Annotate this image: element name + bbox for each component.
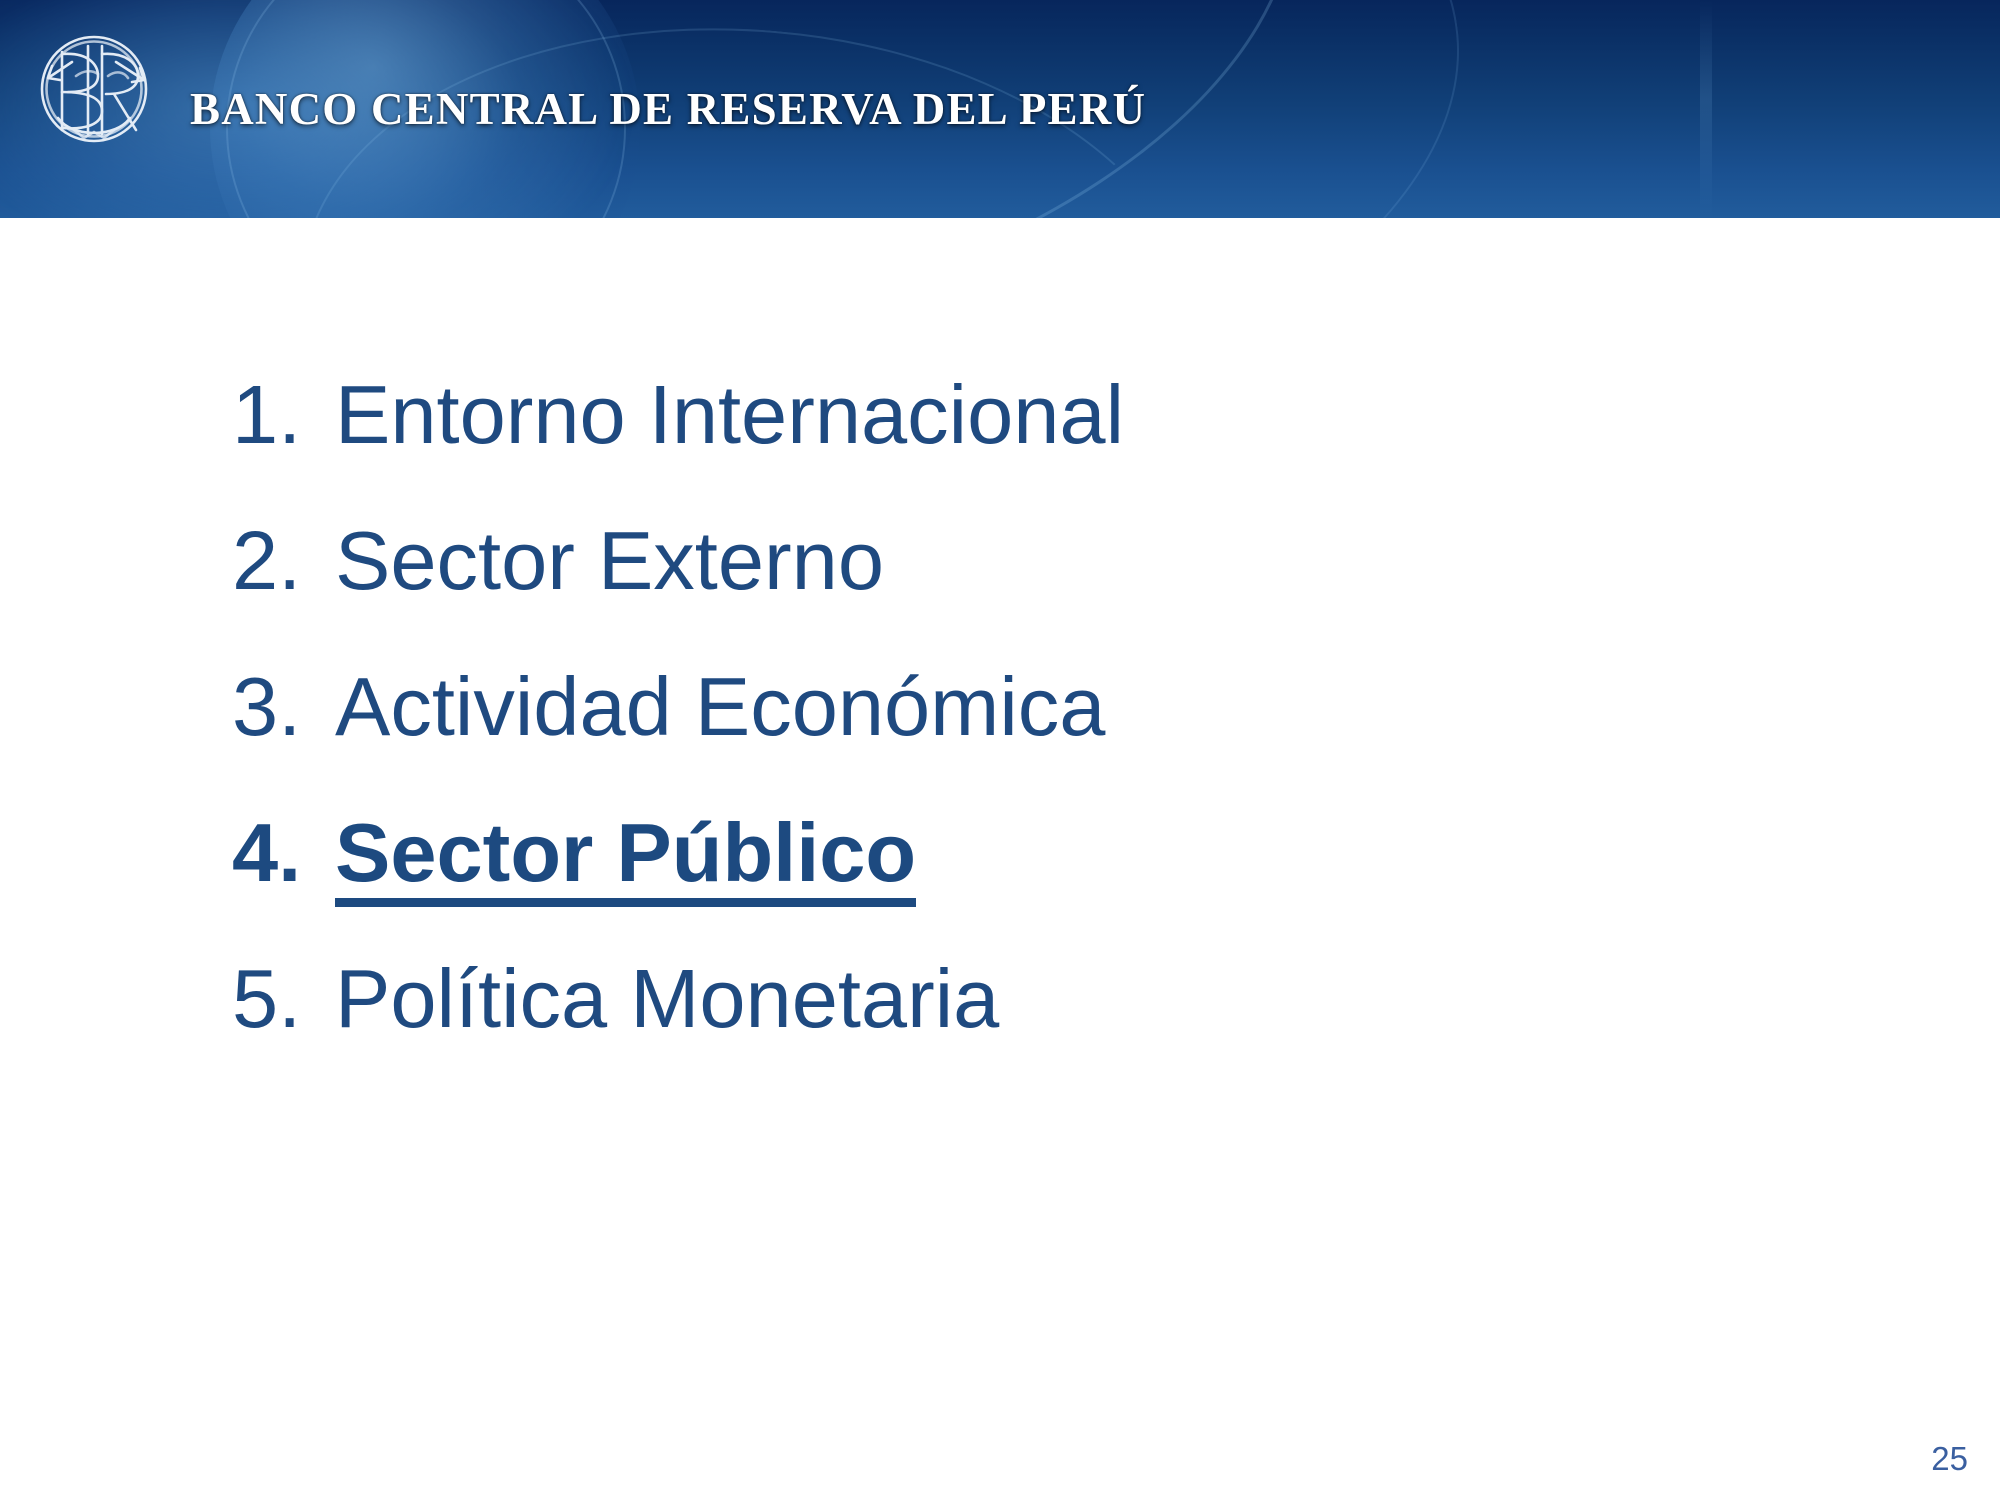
- bank-title: BANCO CENTRAL DE RESERVA DEL PERÚ: [190, 0, 1146, 218]
- header-light-streak: [1700, 0, 1712, 218]
- agenda-item-1-label: Entorno Internacional: [335, 360, 1124, 470]
- agenda-item-2-number: 2.: [232, 506, 335, 616]
- agenda-item-2-label: Sector Externo: [335, 506, 884, 616]
- agenda-item-1-number: 1.: [232, 360, 335, 470]
- presentation-slide: BANCO CENTRAL DE RESERVA DEL PERÚ 1. Ent…: [0, 0, 2000, 1500]
- agenda-item-5[interactable]: 5. Política Monetaria: [232, 944, 1732, 1054]
- page-number: 25: [1931, 1440, 1968, 1478]
- agenda-item-4-label: Sector Público: [335, 811, 916, 907]
- agenda-item-2[interactable]: 2. Sector Externo: [232, 506, 1732, 616]
- agenda-item-5-label: Política Monetaria: [335, 944, 999, 1054]
- agenda-item-3-label: Actividad Económica: [335, 652, 1105, 762]
- agenda-item-1[interactable]: 1. Entorno Internacional: [232, 360, 1732, 470]
- bcrp-logo-icon: [28, 22, 160, 154]
- agenda-item-3[interactable]: 3. Actividad Económica: [232, 652, 1732, 762]
- header-banner: BANCO CENTRAL DE RESERVA DEL PERÚ: [0, 0, 2000, 218]
- agenda-item-5-number: 5.: [232, 944, 335, 1054]
- agenda-item-4-active[interactable]: 4. Sector Público: [232, 798, 1732, 908]
- agenda-list: 1. Entorno Internacional 2. Sector Exter…: [232, 360, 1732, 1090]
- agenda-item-3-number: 3.: [232, 652, 335, 762]
- agenda-item-4-number: 4.: [232, 798, 335, 908]
